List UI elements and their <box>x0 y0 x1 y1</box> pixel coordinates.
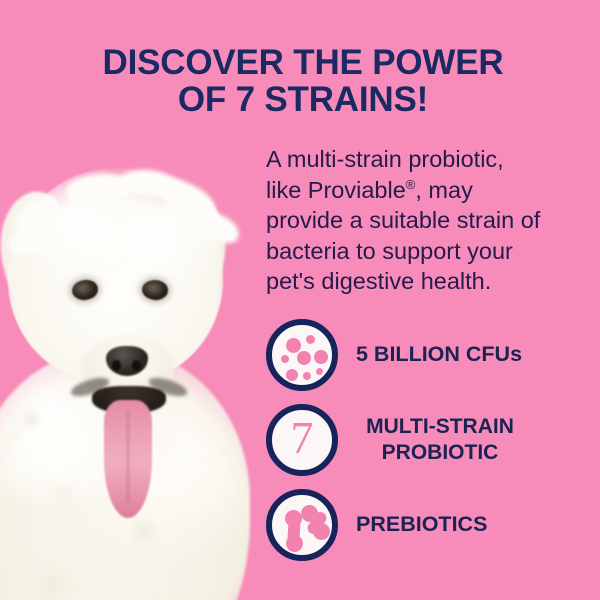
bacteria-dot <box>281 355 289 363</box>
body-line-2-post: , may <box>415 177 472 203</box>
dog-nostril <box>132 360 141 371</box>
bacteria-dot <box>286 369 298 381</box>
dog-nostril <box>112 360 121 371</box>
headline-line-1: DISCOVER THE POWER <box>60 44 546 81</box>
registered-trademark-icon: ® <box>406 177 416 192</box>
bacteria-dot <box>286 338 301 353</box>
dog-fur-tuft <box>181 206 242 247</box>
bacteria-dots-icon <box>266 319 338 391</box>
feature-label-line-2: PROBIOTIC <box>356 440 524 466</box>
number-seven-icon: 7 <box>266 404 338 476</box>
molecule-node <box>286 535 303 552</box>
body-line-4: bacteria to support your <box>266 236 548 267</box>
feature-list: 5 BILLION CFUs 7 MULTI-STRAIN PROBIOTIC … <box>266 312 566 567</box>
feature-label-cfus: 5 BILLION CFUs <box>356 341 522 367</box>
headline: DISCOVER THE POWER OF 7 STRAINS! <box>60 44 546 118</box>
dog-photo <box>0 150 260 600</box>
dog-tongue-crease <box>127 410 129 502</box>
body-line-5: pet's digestive health. <box>266 266 548 297</box>
molecule-node <box>313 523 330 540</box>
number-seven-glyph: 7 <box>272 410 332 470</box>
feature-row-prebiotics: PREBIOTICS <box>266 482 566 567</box>
dog-eye-left <box>71 279 99 302</box>
body-line-2-pre: like Proviable <box>266 177 406 203</box>
body-paragraph: A multi-strain probiotic, like Proviable… <box>266 144 548 297</box>
feature-label-line-1: MULTI-STRAIN <box>356 414 524 440</box>
headline-line-2: OF 7 STRAINS! <box>60 81 546 118</box>
bacteria-dot <box>306 335 315 344</box>
bacteria-dot <box>297 351 311 365</box>
product-info-banner: DISCOVER THE POWER OF 7 STRAINS! A multi… <box>0 0 600 600</box>
bacteria-dot <box>303 372 311 380</box>
bacteria-dot <box>314 350 328 364</box>
molecule-node <box>301 505 318 522</box>
body-line-2: like Proviable®, may <box>266 175 548 206</box>
feature-row-multi-strain: 7 MULTI-STRAIN PROBIOTIC <box>266 397 566 482</box>
feature-label-prebiotics: PREBIOTICS <box>356 511 487 537</box>
dog-head <box>8 168 223 383</box>
bacteria-dot <box>316 368 323 375</box>
molecule-node <box>285 510 302 527</box>
body-line-3: provide a suitable strain of <box>266 205 548 236</box>
dog-eye-right <box>141 279 169 302</box>
body-line-1: A multi-strain probiotic, <box>266 144 548 175</box>
feature-row-cfus: 5 BILLION CFUs <box>266 312 566 397</box>
feature-label-multi-strain: MULTI-STRAIN PROBIOTIC <box>356 414 524 465</box>
prebiotic-molecule-icon <box>266 489 338 561</box>
